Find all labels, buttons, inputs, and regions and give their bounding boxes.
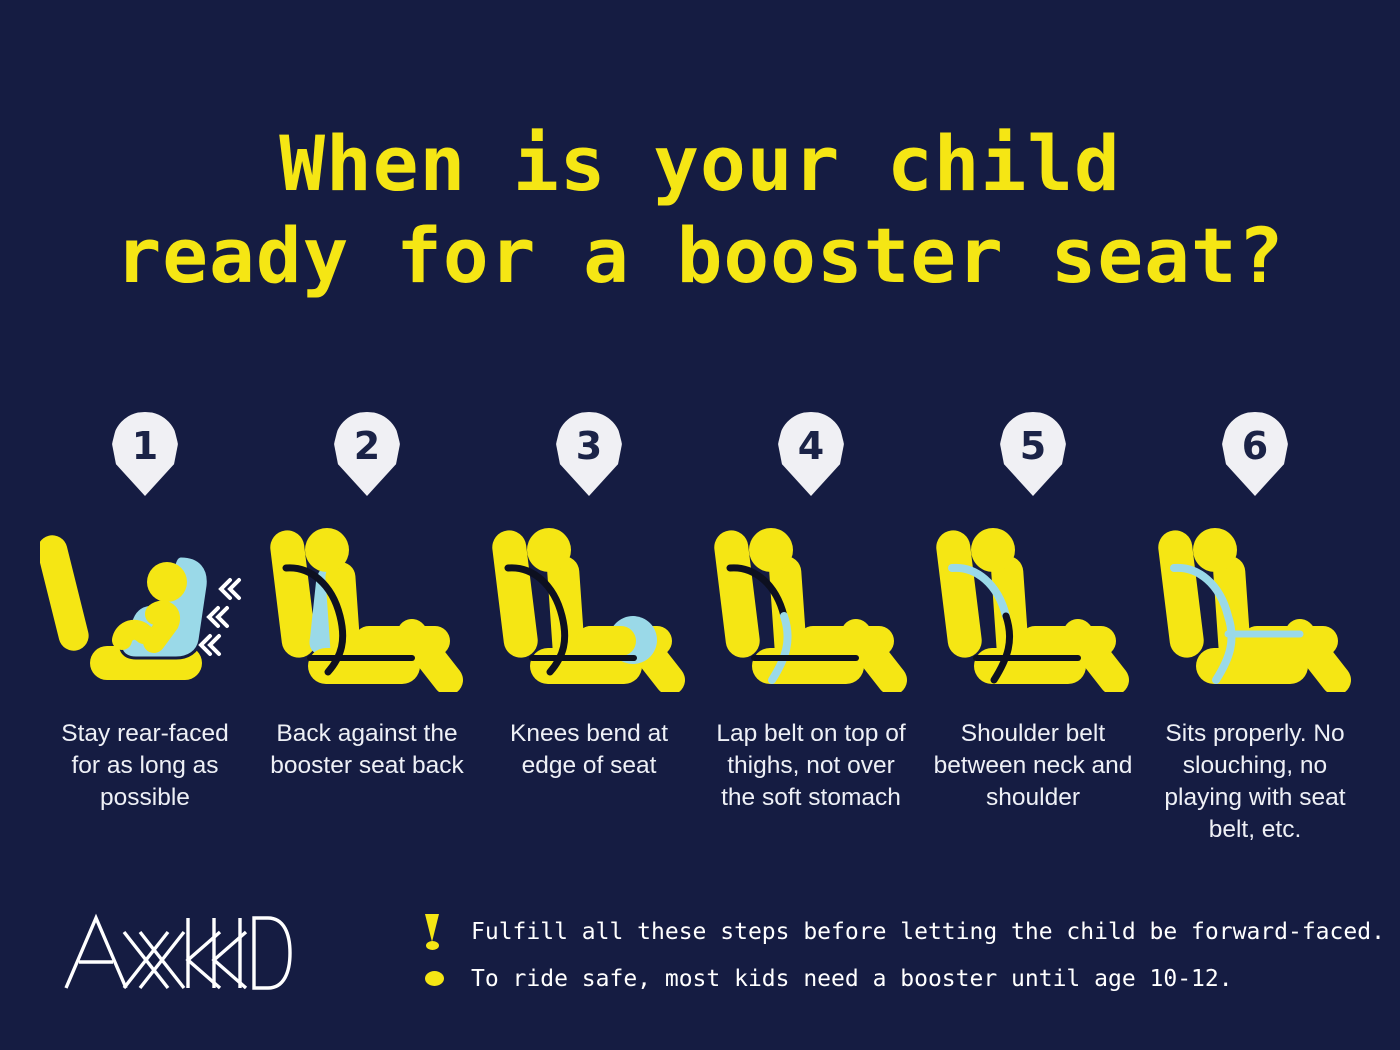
knees-bend-at-seat-edge-icon — [484, 522, 694, 692]
pin-number-2: 2 — [334, 412, 400, 496]
pin-number-5: 5 — [1000, 412, 1066, 496]
step-caption-6: Sits properly. No slouching, no playing … — [1155, 718, 1355, 846]
step-pin-5: 5 — [1000, 412, 1066, 496]
title-line-2: ready for a booster seat? — [0, 210, 1400, 302]
step-caption-4: Lap belt on top of thighs, not over the … — [711, 718, 911, 814]
step-pin-6: 6 — [1222, 412, 1288, 496]
step-caption-5: Shoulder belt between neck and shoulder — [933, 718, 1133, 814]
title-line-1: When is your child — [0, 118, 1400, 210]
step-pin-3: 3 — [556, 412, 622, 496]
footer-note-2-text: To ride safe, most kids need a booster u… — [471, 964, 1233, 994]
step-caption-2: Back against the booster seat back — [267, 718, 467, 782]
step-pin-1: 1 — [112, 412, 178, 496]
footer-note-1-text: Fulfill all these steps before letting t… — [471, 917, 1385, 947]
sits-properly-icon — [1150, 522, 1360, 692]
axkid-logo — [62, 910, 292, 1001]
pin-number-6: 6 — [1222, 412, 1288, 496]
rear-facing-child-seat-icon — [40, 522, 250, 692]
step-4: 4 Lap belt on top of thighs, not over th… — [700, 412, 922, 814]
footer: Fulfill all these steps before letting t… — [0, 898, 1400, 1028]
bullet-dot-icon — [425, 971, 471, 986]
pin-number-1: 1 — [112, 412, 178, 496]
footer-note-2: To ride safe, most kids need a booster u… — [425, 955, 1385, 1002]
shoulder-belt-position-icon — [928, 522, 1138, 692]
exclamation-mark-icon — [425, 914, 471, 950]
step-caption-1: Stay rear-faced for as long as possible — [45, 718, 245, 814]
step-3: 3 Knees bend at edge of seat — [478, 412, 700, 782]
step-6: 6 Sits properly. No slouching, no playin… — [1144, 412, 1366, 846]
steps-row: 1 — [0, 412, 1400, 846]
footer-note-1: Fulfill all these steps before letting t… — [425, 908, 1385, 955]
lap-belt-on-thighs-icon — [706, 522, 916, 692]
step-5: 5 Shoulder belt between neck and shoulde… — [922, 412, 1144, 814]
pin-number-4: 4 — [778, 412, 844, 496]
pin-number-3: 3 — [556, 412, 622, 496]
step-pin-2: 2 — [334, 412, 400, 496]
step-1: 1 — [34, 412, 256, 814]
footer-notes: Fulfill all these steps before letting t… — [425, 908, 1385, 1002]
step-2: 2 Back against the boos — [256, 412, 478, 782]
step-pin-4: 4 — [778, 412, 844, 496]
back-against-booster-seat-icon — [262, 522, 472, 692]
page-title: When is your child ready for a booster s… — [0, 118, 1400, 302]
step-caption-3: Knees bend at edge of seat — [489, 718, 689, 782]
